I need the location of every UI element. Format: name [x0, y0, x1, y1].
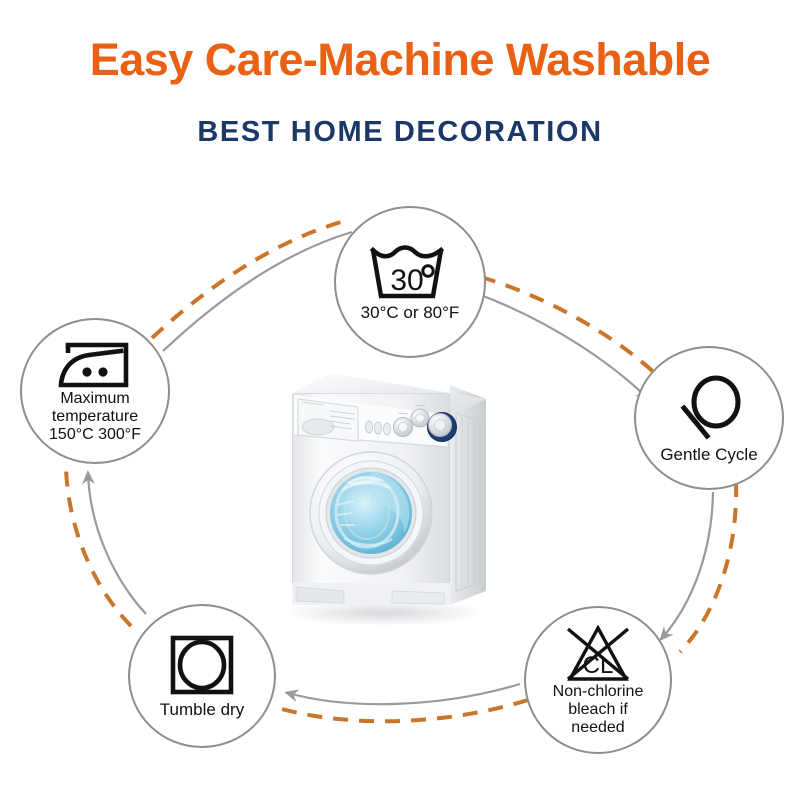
badge-iron-temperature[interactable]: Maximum temperature 150°C 300°F [20, 318, 170, 464]
badge-label-wash-temperature: 30°C or 80°F [361, 304, 460, 321]
svg-text:30: 30 [390, 264, 423, 297]
badge-gentle-cycle[interactable]: Gentle Cycle [634, 346, 784, 490]
gentle-cycle-icon [673, 374, 745, 444]
badge-wash-temperature[interactable]: 30 30°C or 80°F [334, 206, 486, 358]
badge-label-tumble-dry: Tumble dry [160, 701, 244, 718]
wash-tub-icon: 30 [367, 244, 453, 302]
iron-two-dots-icon [51, 339, 139, 391]
badge-label-non-chlorine-bleach: Non-chlorine bleach if needed [553, 683, 644, 737]
connector-solid-iron-to-wash [163, 232, 352, 351]
connector-dashed-iron-to-wash [152, 220, 348, 338]
tumble-dry-icon [169, 634, 235, 696]
badge-label-gentle-cycle: Gentle Cycle [660, 446, 757, 463]
badge-non-chlorine-bleach[interactable]: CL Non-chlorine bleach if needed [524, 606, 672, 754]
connector-dashed-tumble-to-iron [66, 468, 131, 626]
badge-label-iron-temperature: Maximum temperature 150°C 300°F [49, 390, 141, 444]
connector-dashed-gentle-to-bleach [680, 482, 736, 652]
washing-machine-image [272, 355, 502, 625]
badge-tumble-dry[interactable]: Tumble dry [128, 604, 276, 748]
connector-solid-tumble-to-iron [88, 474, 146, 614]
infographic-page: Easy Care-Machine Washable BEST HOME DEC… [0, 0, 800, 800]
connector-dashed-wash-to-gentle [481, 277, 668, 386]
connector-solid-bleach-to-tumble [288, 684, 520, 704]
no-chlorine-bleach-icon: CL [558, 623, 638, 685]
